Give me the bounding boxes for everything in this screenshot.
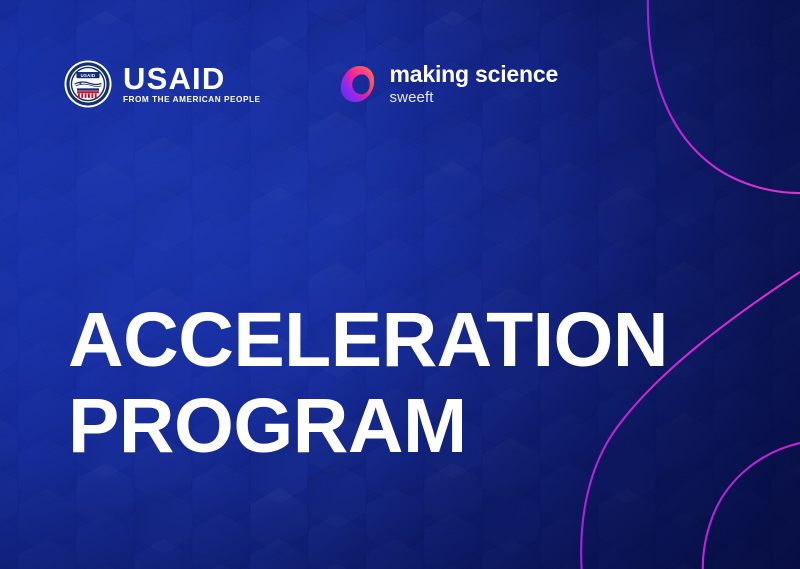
usaid-name: USAID [123,63,261,94]
usaid-tagline: FROM THE AMERICAN PEOPLE [123,96,261,104]
gradient-blob-icon [337,64,377,104]
usaid-seal-icon: USAID [64,60,112,108]
headline-line-2: PROGRAM [68,388,668,464]
magenta-arc-top-right [648,0,800,193]
svg-text:USAID: USAID [81,73,96,78]
making-science-wordmark: making science sweeft [390,62,559,106]
usaid-logo[interactable]: USAID [64,60,261,108]
usaid-wordmark: USAID FROM THE AMERICAN PEOPLE [123,63,261,104]
making-science-logo[interactable]: making science sweeft [337,62,559,106]
making-science-sub: sweeft [390,89,559,106]
promo-banner: USAID [0,0,800,569]
magenta-arc-bottom-corner [703,443,800,569]
headline-line-1: ACCELERATION [68,302,668,378]
logo-row: USAID [64,60,558,108]
making-science-name: making science [390,62,559,88]
page-title: ACCELERATION PROGRAM [68,302,668,464]
